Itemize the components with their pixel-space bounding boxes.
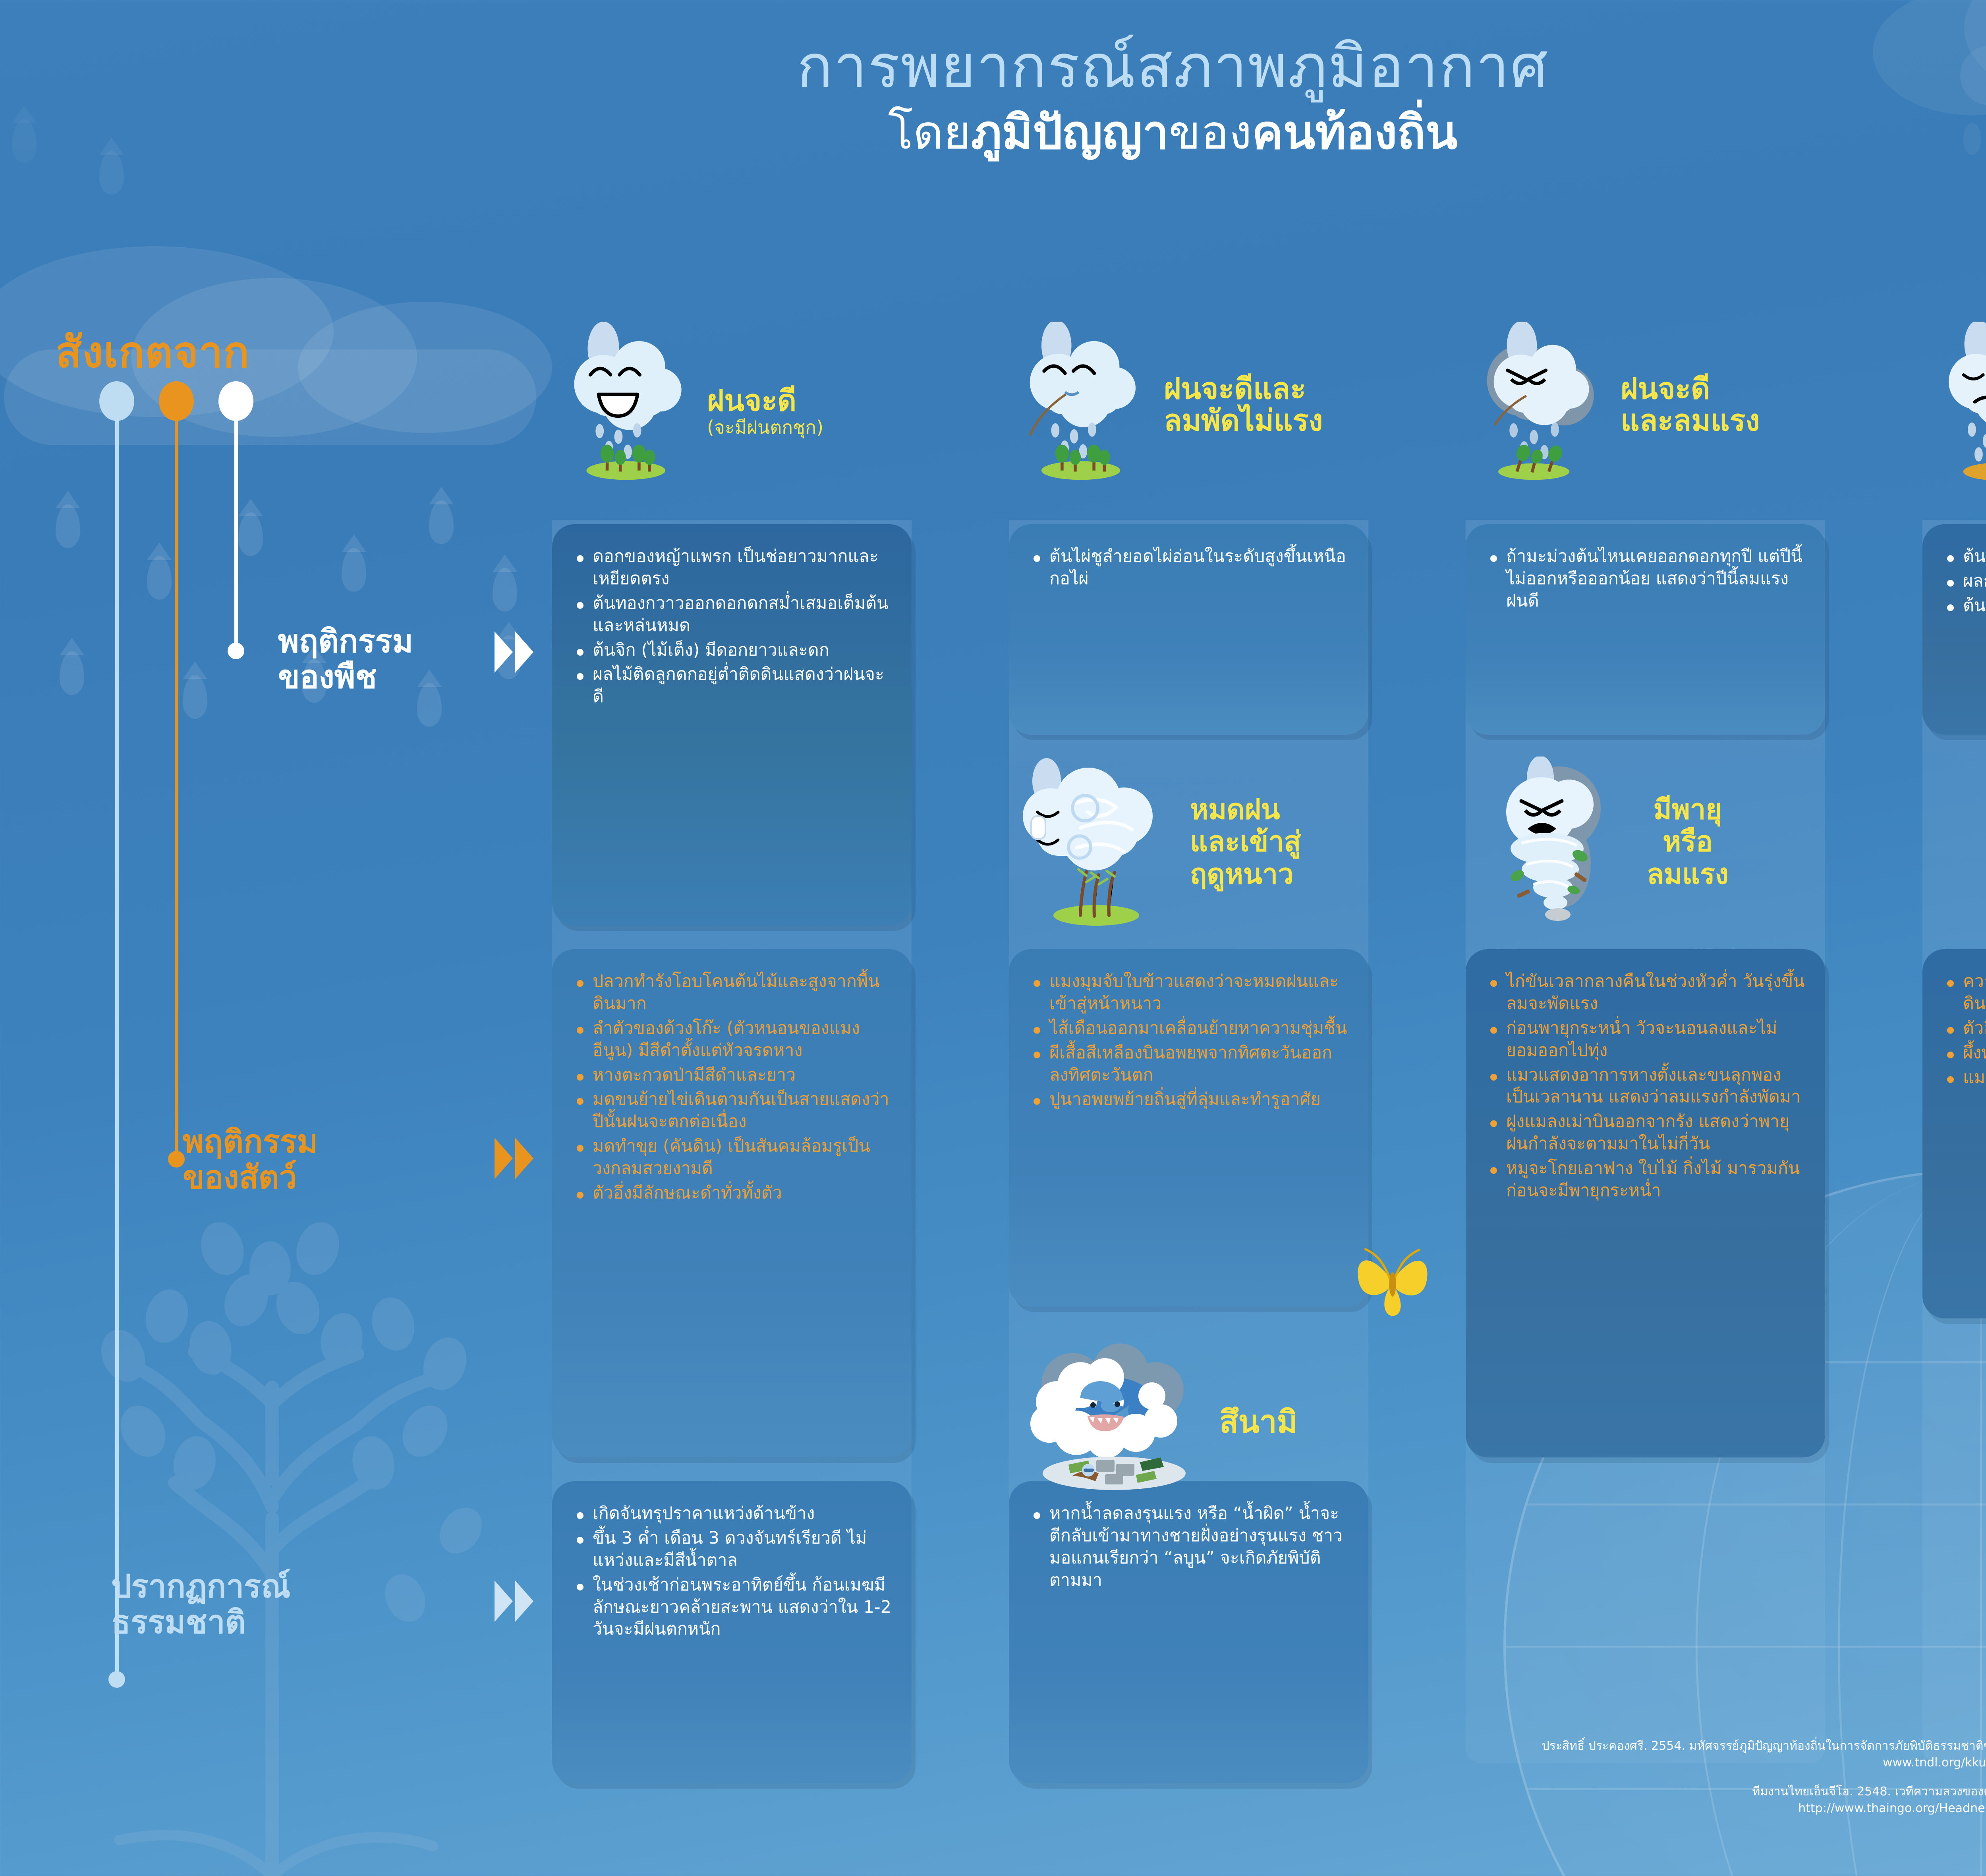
chevron-nature <box>495 1581 536 1622</box>
list-item: มดทำขุย (คันดิน) เป็นสันคมล้อมรูเป็นวงกล… <box>575 1135 893 1180</box>
animals-list-col1: ปลวกทำรังโอบโคนต้นไม้และสูงจากพื้นดินมาก… <box>575 971 893 1204</box>
rail-stem-nature <box>234 417 238 655</box>
card-nature-col2[interactable]: หากน้ำลดลงรุนแรง หรือ “น้ำผิด” น้ำจะตีกล… <box>1009 1481 1368 1783</box>
page-header: การพยากรณ์สภาพภูมิอากาศ โดยภูมิปัญญาของค… <box>0 36 1986 159</box>
tornado-cloud-icon <box>1470 757 1640 927</box>
list-item: เกิดจันทรุปราคาแหว่งด้านข้าง <box>575 1503 893 1525</box>
decor-raindrop <box>56 504 80 548</box>
rail-enddot-plants <box>228 643 244 659</box>
card-animals-col3[interactable]: ไก่ขันเวลากลางคืนในช่วงหัวค่ำ วันรุ่งขึ้… <box>1466 949 1825 1457</box>
row-label-animals-line1: พฤติกรรม <box>183 1124 318 1160</box>
card-plants-col1[interactable]: ดอกของหญ้าแพรก เป็นช่อยาวมากและเหยียดตรง… <box>552 524 912 925</box>
list-item: ผึ้งทำรังต่ำ <box>1945 1042 1986 1064</box>
list-item: หางตะกวดป่ามีสีดำและยาว <box>575 1064 893 1087</box>
row-label-animals: พฤติกรรม ของสัตว์ <box>183 1124 318 1195</box>
rail-stem-animals <box>175 417 178 1160</box>
decor-raindrop <box>493 568 517 612</box>
list-item: ขึ้น 3 ค่ำ เดือน 3 ดวงจันทร์เรียวดี ไม่แ… <box>575 1527 893 1572</box>
chevron-animals <box>495 1138 536 1179</box>
list-item: ดอกของหญ้าแพรก เป็นช่อยาวมากและเหยียดตรง <box>575 546 893 590</box>
column-header-2-title-line2: ลมพัดไม่แรง <box>1164 405 1323 437</box>
card-animals-col4[interactable]: ควายเมื่อปล่อยจากคอกเอาเท้าหน้าขูดดินทิศ… <box>1922 949 1986 1318</box>
page-title: การพยากรณ์สภาพภูมิอากาศ <box>0 36 1986 98</box>
list-item: ไก่ขันเวลากลางคืนในช่วงหัวค่ำ วันรุ่งขึ้… <box>1489 971 1807 1015</box>
plants-list-col2: ต้นไผ่ชูลำยอดไผ่อ่อนในระดับสูงขึ้นเหนือก… <box>1032 546 1350 590</box>
page-subtitle: โดยภูมิปัญญาของคนท้องถิ่น <box>0 106 1986 160</box>
column-header-2-title: ฝนจะดีและ <box>1164 373 1323 405</box>
butterfly-icon <box>1343 1227 1442 1326</box>
decor-raindrop <box>429 500 454 544</box>
card-plants-col4[interactable]: ต้นมะขามออกดอกมาก ผลกะทกรกมีขนหุ้มมาก ต้… <box>1922 524 1986 735</box>
happy-rain-cloud-icon <box>564 322 699 481</box>
list-item: แมงมุมจับใบข้าวแสดงว่าจะหมดฝนและเข้าสู่ห… <box>1032 971 1350 1015</box>
column-header-1-subtitle: (จะมีฝนตกชุก) <box>707 417 823 438</box>
list-item: ปูนาอพยพย้ายถิ่นสู่ที่ลุ่มและทำรูอาศัย <box>1032 1089 1350 1111</box>
sources-block: ที่มา : ประสิทธิ์ ประคองศรี. 2554. มหัศจ… <box>1433 1712 1986 1829</box>
banner-end-of-rain-text: หมดฝน และเข้าสู่ ฤดูหนาว <box>1190 793 1301 890</box>
angry-rain-cloud-icon <box>1478 322 1613 481</box>
rail-stem-plants <box>115 417 119 1680</box>
decor-raindrop <box>417 683 442 727</box>
sleepy-windy-cloud-icon <box>1013 757 1184 927</box>
list-item: ปลวกทำรังโอบโคนต้นไม้และสูงจากพื้นดินมาก <box>575 971 893 1015</box>
banner-storm-text: มีพายุ หรือ ลมแรง <box>1647 793 1729 890</box>
card-plants-col2[interactable]: ต้นไผ่ชูลำยอดไผ่อ่อนในระดับสูงขึ้นเหนือก… <box>1009 524 1368 735</box>
list-item: มดขนย้ายไข่เดินตามกันเป็นสายแสดงว่าปีนั้… <box>575 1089 893 1133</box>
column-header-3-title: ฝนจะดี <box>1621 373 1760 405</box>
list-item: ควายเมื่อปล่อยจากคอกเอาเท้าหน้าขูดดินทิศ… <box>1945 971 1986 1015</box>
row-label-plants: พฤติกรรม ของพืช <box>278 623 413 695</box>
observe-from-label: สังเกตจาก <box>56 318 249 386</box>
row-label-plants-line2: ของพืช <box>278 659 413 695</box>
card-nature-col1[interactable]: เกิดจันทรุปราคาแหว่งด้านข้าง ขึ้น 3 ค่ำ … <box>552 1481 912 1783</box>
source-item-1: ประสิทธิ์ ประคองศรี. 2554. มหัศจรรย์ภูมิ… <box>1433 1738 1986 1772</box>
list-item: แมงดาวางไข่ต่ำ <box>1945 1067 1986 1089</box>
list-item: ต้นไผ่ชูลำยอดไผ่อ่อนในระดับสูงขึ้นเหนือก… <box>1032 546 1350 590</box>
nature-list-col1: เกิดจันทรุปราคาแหว่งด้านข้าง ขึ้น 3 ค่ำ … <box>575 1503 893 1641</box>
row-label-nature-line1: ปรากฏการณ์ <box>111 1569 290 1604</box>
tsunami-wave-icon <box>1021 1338 1207 1505</box>
rail-dot-plants <box>99 381 134 421</box>
list-item: แมวแสดงอาการหางตั้งและขนลุกพองเป็นเวลานา… <box>1489 1064 1807 1109</box>
row-label-nature: ปรากฏการณ์ ธรรมชาติ <box>111 1569 290 1640</box>
banner-line-1: มีพายุ <box>1647 793 1729 826</box>
row-label-animals-line2: ของสัตว์ <box>183 1160 318 1195</box>
list-item: ในช่วงเช้าก่อนพระอาทิตย์ขึ้น ก้อนเมฆมีลั… <box>575 1574 893 1641</box>
list-item: ต้นจิก (ไม้เต็ง) มีดอกยาวและดก <box>575 639 893 662</box>
column-header-1-title: ฝนจะดี <box>707 385 823 417</box>
rail-dot-animals <box>159 381 194 421</box>
list-item: ฝูงแมลงเม่าบินออกจากรัง แสดงว่าพายุฝนกำล… <box>1489 1111 1807 1155</box>
card-plants-col3[interactable]: ถ้ามะม่วงต้นไหนเคยออกดอกทุกปี แต่ปีนี้ไม… <box>1466 524 1825 735</box>
card-animals-col1[interactable]: ปลวกทำรังโอบโคนต้นไม้และสูงจากพื้นดินมาก… <box>552 949 912 1457</box>
card-animals-col2[interactable]: แมงมุมจับใบข้าวแสดงว่าจะหมดฝนและเข้าสู่ห… <box>1009 949 1368 1307</box>
subtitle-part-3: ของ <box>1169 105 1252 160</box>
banner-line-3: ฤดูหนาว <box>1190 858 1301 890</box>
animals-list-col2: แมงมุมจับใบข้าวแสดงว่าจะหมดฝนและเข้าสู่ห… <box>1032 971 1350 1111</box>
row-label-nature-line2: ธรรมชาติ <box>111 1604 290 1640</box>
tsunami-title: สึนามิ <box>1219 1397 1297 1446</box>
rail-enddot-animals <box>168 1151 185 1168</box>
banner-line-3: ลมแรง <box>1647 858 1729 890</box>
list-item: หมูจะโกยเอาฟาง ใบไม้ กิ่งไม้ มารวมกันก่อ… <box>1489 1158 1807 1202</box>
sad-rain-cloud-icon <box>1934 322 1986 481</box>
rail-dot-nature <box>218 381 253 421</box>
chevron-plants <box>495 631 536 673</box>
animals-list-col4: ควายเมื่อปล่อยจากคอกเอาเท้าหน้าขูดดินทิศ… <box>1945 971 1986 1089</box>
banner-end-of-rain: หมดฝน และเข้าสู่ ฤดูหนาว <box>1013 755 1378 929</box>
subtitle-part-1: โดย <box>888 105 971 160</box>
rail-enddot-nature <box>108 1671 125 1688</box>
banner-line-2: และเข้าสู่ <box>1190 826 1301 858</box>
list-item: ต้นทองกวาวออกดอกดกสม่ำเสมอเต็มต้นและหล่น… <box>575 593 893 637</box>
subtitle-part-4: คนท้องถิ่น <box>1252 105 1458 160</box>
list-item: ตัวอึ่งมีลักษณะดำทั่วทั้งตัว <box>575 1182 893 1204</box>
banner-line-2: หรือ <box>1647 826 1729 858</box>
sources-label: ที่มา : <box>1433 1712 1986 1734</box>
list-item: ผลไม้ติดลูกดกอยู่ต่ำติดดินแสดงว่าฝนจะดี <box>575 664 893 708</box>
banner-line-1: หมดฝน <box>1190 793 1301 826</box>
list-item: ก่อนพายุกระหน่ำ วัวจะนอนลงและไม่ยอมออกไป… <box>1489 1017 1807 1062</box>
list-item: ลำตัวของด้วงโก๊ะ (ตัวหนอนของแมงอีนูน) มี… <box>575 1017 893 1062</box>
plants-list-col1: ดอกของหญ้าแพรก เป็นช่อยาวมากและเหยียดตรง… <box>575 546 893 708</box>
nature-list-col2: หากน้ำลดลงรุนแรง หรือ “น้ำผิด” น้ำจะตีกล… <box>1032 1503 1350 1592</box>
list-item: ต้นมะขามออกดอกมาก <box>1945 546 1986 568</box>
sneezing-rain-cloud-icon <box>1021 322 1156 481</box>
observe-rail <box>79 381 357 1652</box>
column-header-3-title-line2: และลมแรง <box>1621 405 1760 437</box>
list-item: ถ้ามะม่วงต้นไหนเคยออกดอกทุกปี แต่ปีนี้ไม… <box>1489 546 1807 612</box>
banner-storm: มีพายุ หรือ ลมแรง <box>1470 755 1835 929</box>
list-item: ผีเสื้อสีเหลืองบินอพยพจากทิศตะวันออกลงทิ… <box>1032 1042 1350 1087</box>
list-item: ตัวอึ่งมีลักษณะดำไม่ทั่วตัว <box>1945 1017 1986 1040</box>
list-item: ต้นบกมีผลดกเต็มต้น <box>1945 595 1986 617</box>
subtitle-part-2: ภูมิปัญญา <box>971 105 1169 160</box>
tsunami-block: สึนามิ <box>1021 1338 1297 1505</box>
row-label-plants-line1: พฤติกรรม <box>278 623 413 659</box>
source-item-2: ทีมงานไทยเอ็นจีโอ. 2548. เวทีความลวงของค… <box>1433 1783 1986 1817</box>
list-item: ไส้เดือนออกมาเคลื่อนย้ายหาความชุ่มชื้น <box>1032 1017 1350 1040</box>
plants-list-col4: ต้นมะขามออกดอกมาก ผลกะทกรกมีขนหุ้มมาก ต้… <box>1945 546 1986 617</box>
animals-list-col3: ไก่ขันเวลากลางคืนในช่วงหัวค่ำ วันรุ่งขึ้… <box>1489 971 1807 1202</box>
list-item: ผลกะทกรกมีขนหุ้มมาก <box>1945 570 1986 593</box>
list-item: หากน้ำลดลงรุนแรง หรือ “น้ำผิด” น้ำจะตีกล… <box>1032 1503 1350 1592</box>
plants-list-col3: ถ้ามะม่วงต้นไหนเคยออกดอกทุกปี แต่ปีนี้ไม… <box>1489 546 1807 612</box>
